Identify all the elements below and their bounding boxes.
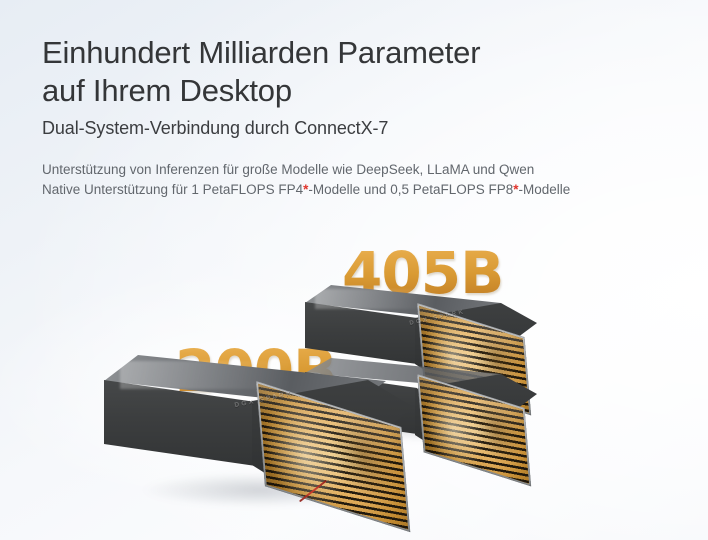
page-subtitle: Dual-System-Verbindung durch ConnectX-7 [42, 116, 682, 140]
body-line-2: Native Unterstützung für 1 PetaFLOPS FP4… [42, 180, 682, 200]
slide-canvas: Einhundert Milliarden Parameter auf Ihre… [0, 0, 708, 540]
device-top-sheen [315, 289, 435, 309]
body-line-2-part-2: -Modelle und 0,5 PetaFLOPS FP8 [308, 182, 513, 197]
device-front-unit: DGX SPARK [100, 355, 420, 500]
body-line-1: Unterstützung von Inferenzen für große M… [42, 160, 682, 180]
product-illustration: DGX SPARK [0, 230, 708, 530]
page-title: Einhundert Milliarden Parameter auf Ihre… [42, 34, 682, 110]
body-copy: Unterstützung von Inferenzen für große M… [42, 160, 682, 200]
body-line-2-part-1: Native Unterstützung für 1 PetaFLOPS FP4 [42, 182, 303, 197]
device-top-sheen [120, 361, 290, 389]
text-block: Einhundert Milliarden Parameter auf Ihre… [42, 34, 682, 200]
body-line-2-part-3: -Modelle [519, 182, 571, 197]
